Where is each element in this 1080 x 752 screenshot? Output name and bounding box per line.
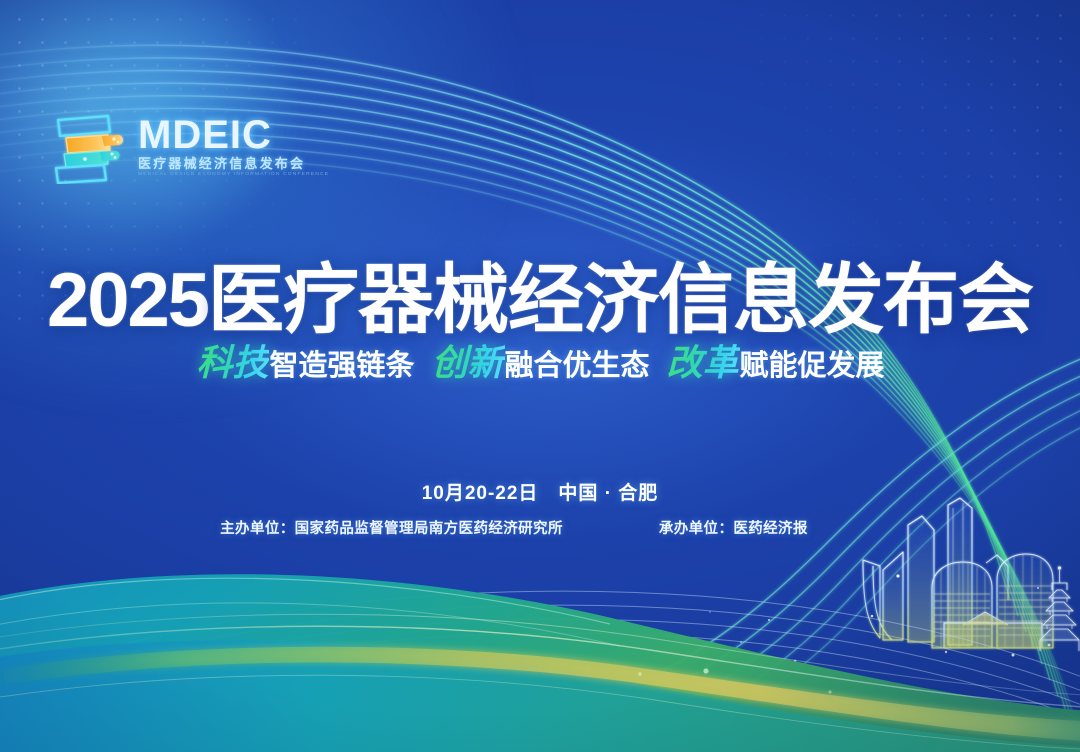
background-vignette [0,0,1080,752]
poster-canvas: MDEIC 医疗器械经济信息发布会 MEDICAL DEVICE ECONOMY… [0,0,1080,752]
